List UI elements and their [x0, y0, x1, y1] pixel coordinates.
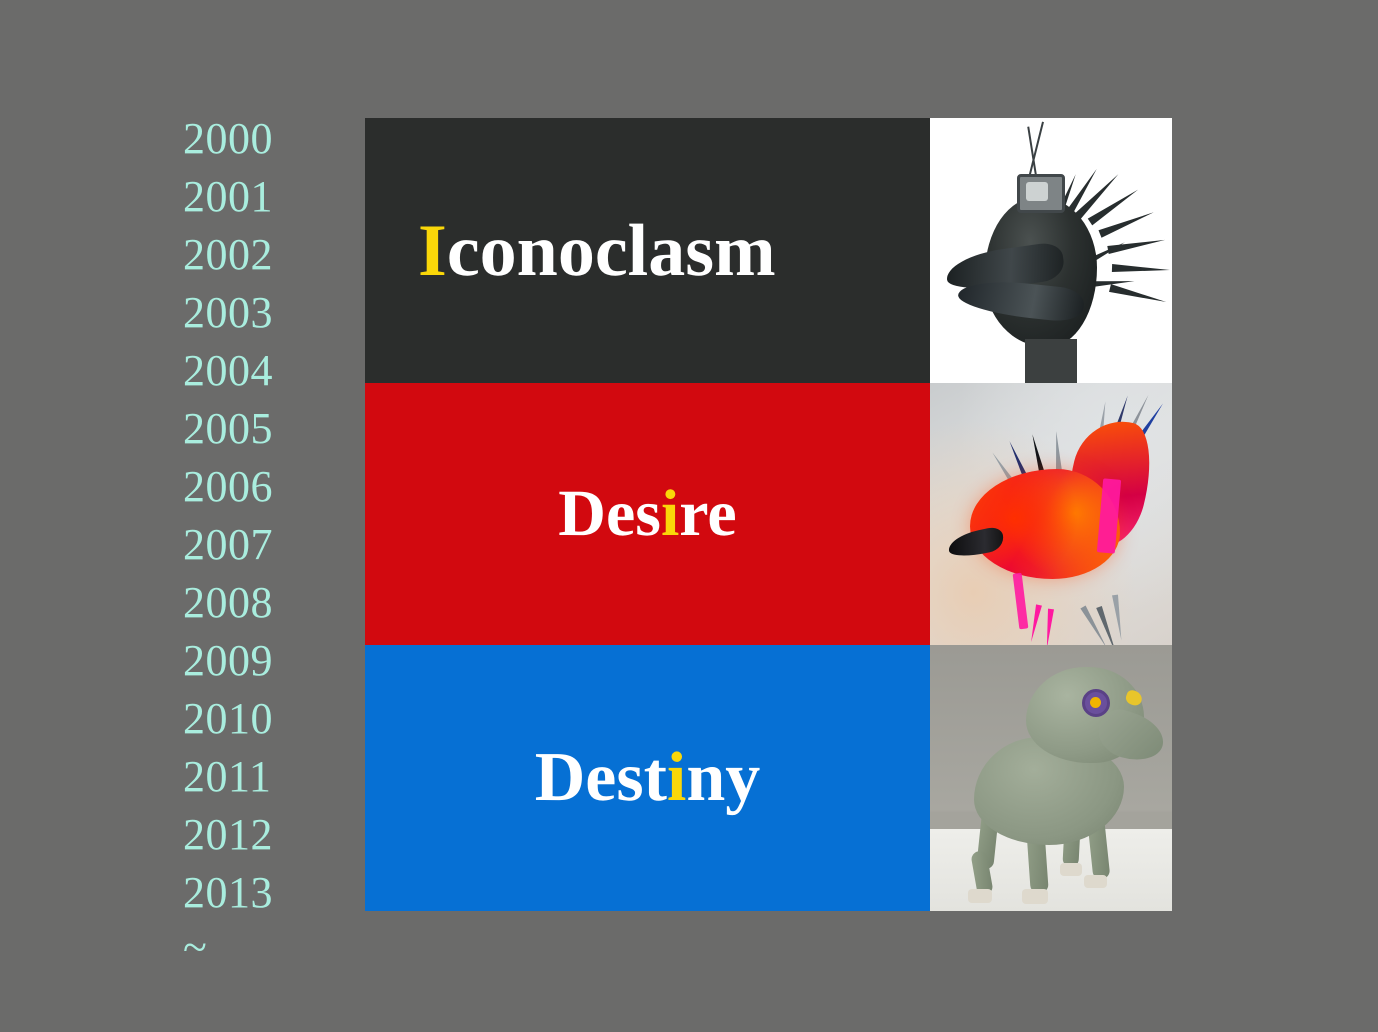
year-item[interactable]: 2008: [183, 574, 333, 632]
creature-eye: [1082, 689, 1110, 717]
band-iconoclasm[interactable]: Iconoclasm: [365, 118, 930, 383]
creature-hoof: [1022, 889, 1048, 904]
year-item[interactable]: 2001: [183, 168, 333, 226]
pink-quill: [1044, 609, 1054, 645]
spike-shape: [1112, 595, 1124, 641]
spike-shape: [1112, 264, 1170, 274]
title-prefix: Des: [558, 477, 661, 550]
spike-shape: [1109, 284, 1167, 306]
year-item[interactable]: 2009: [183, 632, 333, 690]
year-item[interactable]: 2013: [183, 864, 333, 922]
creature-hoof: [968, 889, 992, 903]
title-suffix: ny: [686, 739, 760, 816]
television-icon: [1017, 174, 1065, 213]
spike-shape: [1053, 431, 1062, 471]
year-item[interactable]: 2007: [183, 516, 333, 574]
theme-grid: Iconoclasm Desire: [365, 118, 1172, 911]
band-destiny[interactable]: Destiny: [365, 645, 930, 911]
band-desire[interactable]: Desire: [365, 383, 930, 645]
band-title-iconoclasm: Iconoclasm: [365, 214, 930, 288]
title-suffix: re: [679, 477, 736, 550]
creature-hoof: [1084, 875, 1107, 888]
title-highlight-letter: i: [661, 477, 679, 550]
year-item-continuation[interactable]: ~: [183, 922, 333, 974]
year-item[interactable]: 2003: [183, 284, 333, 342]
title-rest: conoclasm: [447, 210, 776, 292]
title-prefix: Dest: [535, 739, 667, 816]
artwork-destiny[interactable]: [930, 645, 1172, 911]
pink-quill: [1013, 573, 1029, 630]
creature-body: [970, 469, 1120, 579]
year-item[interactable]: 2005: [183, 400, 333, 458]
artwork-desire[interactable]: [930, 383, 1172, 645]
band-title-desire: Desire: [365, 481, 930, 547]
title-highlight-letter: i: [667, 739, 686, 816]
year-item[interactable]: 2006: [183, 458, 333, 516]
slide-canvas: 2000 2001 2002 2003 2004 2005 2006 2007 …: [0, 0, 1378, 1032]
year-item[interactable]: 2012: [183, 806, 333, 864]
year-item[interactable]: 2010: [183, 690, 333, 748]
band-title-destiny: Destiny: [365, 743, 930, 813]
year-item[interactable]: 2002: [183, 226, 333, 284]
creature-hoof: [1060, 863, 1082, 876]
sculpture-plinth: [1025, 339, 1077, 383]
pink-quill: [1028, 604, 1042, 642]
year-rail: 2000 2001 2002 2003 2004 2005 2006 2007 …: [183, 110, 333, 974]
year-item[interactable]: 2000: [183, 110, 333, 168]
year-item[interactable]: 2011: [183, 748, 333, 806]
title-highlight-letter: I: [418, 210, 447, 292]
year-item[interactable]: 2004: [183, 342, 333, 400]
artwork-iconoclasm[interactable]: [930, 118, 1172, 383]
